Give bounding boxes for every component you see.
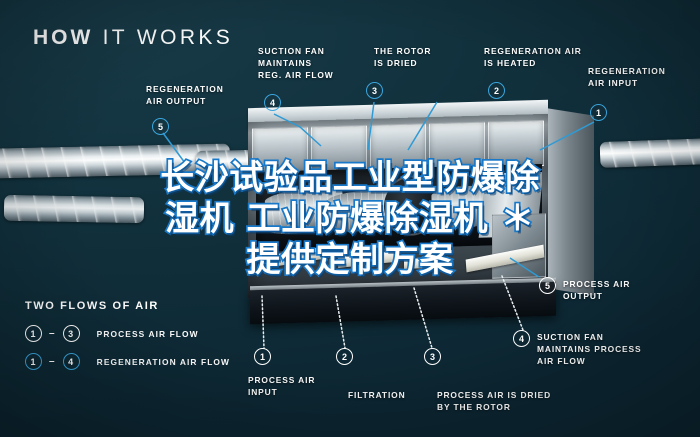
legend-label: PROCESS AIR FLOW [97,329,199,339]
legend-label: REGENERATION AIR FLOW [97,357,230,367]
callout-number-3-process-dried[interactable]: 3 [424,348,441,365]
legend-number-to: 3 [63,325,80,342]
callout-number-1-regen-input[interactable]: 1 [590,104,607,121]
access-door [370,123,426,171]
callout-number-2-regen-heated[interactable]: 2 [488,82,505,99]
callout-label-rotor-is-dried: THE ROTOR IS DRIED [374,46,431,70]
access-door [311,125,367,173]
callout-label-regeneration-air-output: REGENERATION AIR OUTPUT [146,84,224,108]
cabinet-side-panel [548,108,594,295]
callout-number-1-process-input[interactable]: 1 [254,348,271,365]
callout-number-2-filtration[interactable]: 2 [336,348,353,365]
callout-label-filtration: FILTRATION [348,390,406,402]
legend-heading: TWO FLOWS OF AIR [25,300,159,312]
legend-number-to: 4 [63,353,80,370]
callout-number-4-suction-fan-reg[interactable]: 4 [264,94,281,111]
callout-label-suction-fan-process: SUCTION FAN MAINTAINS PROCESS AIR FLOW [537,332,641,368]
access-door [252,127,308,175]
callout-label-regeneration-air-input: REGENERATION AIR INPUT [588,66,666,90]
legend-dash: – [49,356,56,367]
legend-dash: – [49,328,56,339]
callout-number-4-suction-fan-process[interactable]: 4 [513,330,530,347]
spiral-duct-right [600,138,700,168]
legend-row-regeneration-air-flow: 1 – 4 REGENERATION AIR FLOW [25,353,230,370]
legend-number-from: 1 [25,353,42,370]
page-title-rest: IT WORKS [93,26,233,49]
desiccant-rotor [384,177,438,235]
callout-label-process-air-dried: PROCESS AIR IS DRIED BY THE ROTOR [437,390,551,414]
callout-number-5-regen-output[interactable]: 5 [152,118,169,135]
page-title: HOW IT WORKS [33,26,233,50]
page-title-strong: HOW [33,26,93,49]
callout-label-regeneration-air-heated: REGENERATION AIR IS HEATED [484,46,582,70]
legend-row-process-air-flow: 1 – 3 PROCESS AIR FLOW [25,325,199,342]
access-door [488,120,544,168]
callout-number-5-process-output[interactable]: 5 [539,277,556,294]
callout-label-process-air-input: PROCESS AIR INPUT [248,375,315,399]
callout-number-3-rotor-dried[interactable]: 3 [366,82,383,99]
callout-label-suction-fan-reg: SUCTION FAN MAINTAINS REG. AIR FLOW [258,46,334,82]
legend-number-from: 1 [25,325,42,342]
spiral-duct-lower [4,195,144,223]
base-frame [250,282,556,325]
infographic-canvas: HOW IT WORKS REGENERATION AIR OUTPUT 5 S… [0,0,700,437]
callout-label-process-air-output: PROCESS AIR OUTPUT [563,279,630,303]
access-door [429,122,485,170]
